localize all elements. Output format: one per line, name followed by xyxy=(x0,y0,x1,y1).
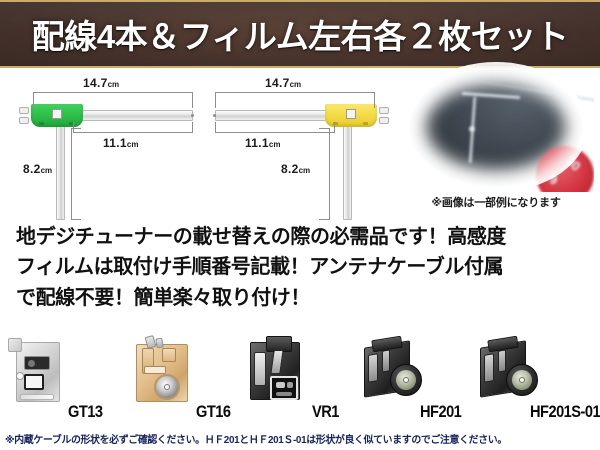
left-dim-height-label: 8.2cm xyxy=(23,162,52,176)
description-line-1: 地デジチューナーの載せ替えの際の必需品です！高感度 xyxy=(16,222,590,252)
right-film-tip-dot xyxy=(213,114,216,117)
right-dim-inner-width-label: 11.1cm xyxy=(245,136,280,150)
right-pad-notch xyxy=(363,122,368,125)
connector-hf201: HF201 xyxy=(362,336,480,424)
left-film-end-tab xyxy=(19,117,29,124)
connector-gt13: GT13 xyxy=(6,336,122,424)
installation-photo: 30 9 xyxy=(398,62,594,192)
left-film-end-tab xyxy=(19,107,29,114)
connector-hf201s-01: HF201S-01 xyxy=(478,336,598,424)
right-film-end-tab xyxy=(379,107,389,114)
gt16-label: GT16 xyxy=(196,402,231,422)
hf201-label: HF201 xyxy=(420,402,461,422)
left-pad-chip-icon xyxy=(52,109,62,119)
right-film-contact-pad xyxy=(325,104,377,127)
vr1-label: VR1 xyxy=(312,402,339,422)
connector-gt16: GT16 xyxy=(124,336,250,424)
header-banner: 配線4本＆フィルム左右各２枚セット xyxy=(0,0,600,68)
right-film-end-tab xyxy=(379,117,389,124)
banner-title: 配線4本＆フィルム左右各２枚セット xyxy=(32,10,569,58)
gt13-label: GT13 xyxy=(68,402,103,422)
description-block: 地デジチューナーの載せ替えの際の必需品です！高感度 フィルムは取付け手順番号記載… xyxy=(16,222,590,313)
left-film-contact-pad xyxy=(31,104,83,127)
left-pad-notch xyxy=(39,122,44,125)
right-dim-height-label: 8.2cm xyxy=(281,162,310,176)
right-antenna-diagram: 14.7cm 11.1cm 8.2cm xyxy=(205,70,405,218)
product-banner-image: 配線4本＆フィルム左右各２枚セット 14 xyxy=(0,0,600,450)
left-dim-inner-width-label: 11.1cm xyxy=(103,136,138,150)
photo-caption: ※画像は一部例になります xyxy=(398,194,594,210)
hf201s01-label: HF201S-01 xyxy=(530,402,600,422)
footer-note-bar: ※内蔵ケーブルの形状を必ずご確認ください。ＨＦ201とＨＦ201Ｓ-01は形状が… xyxy=(0,426,600,450)
left-film-vertical-strip xyxy=(56,120,65,220)
footer-note: ※内蔵ケーブルの形状を必ずご確認ください。ＨＦ201とＨＦ201Ｓ-01は形状が… xyxy=(0,431,507,446)
description-line-3: で配線不要！簡単楽々取り付け！ xyxy=(16,283,590,313)
left-film-tip-dot xyxy=(191,114,194,117)
description-line-2: フィルムは取付け手順番号記載！アンテナケーブル付属 xyxy=(16,252,590,282)
left-antenna-diagram: 14.7cm 11.1cm 8.2cm xyxy=(5,70,205,218)
right-dim-overall-width-label: 14.7cm xyxy=(265,76,301,90)
left-dim-overall-width-label: 14.7cm xyxy=(83,76,119,90)
right-film-vertical-strip xyxy=(343,120,352,220)
connector-vr1: VR1 xyxy=(246,336,364,424)
connector-type-row: GT13 GT16 xyxy=(0,336,600,424)
photo-vignette xyxy=(404,62,588,192)
right-pad-chip-icon xyxy=(346,109,356,119)
